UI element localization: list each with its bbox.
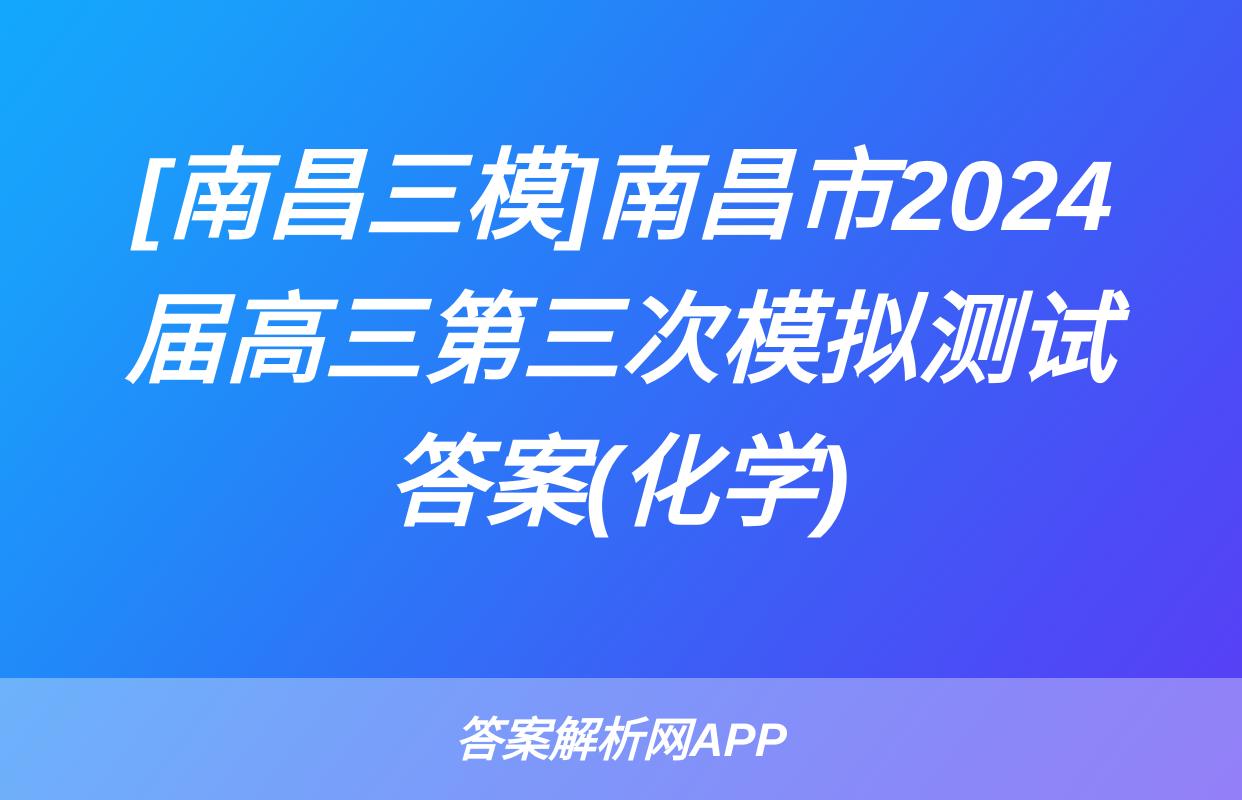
watermark-label: 答案解析网APP [454,716,787,763]
watermark-band: 答案解析网APP [0,678,1242,800]
title-container: [南昌三模]南昌市2024届高三第三次模拟测试答案(化学) [0,0,1242,678]
page-title: [南昌三模]南昌市2024届高三第三次模拟测试答案(化学) [82,124,1160,555]
poster-canvas: [南昌三模]南昌市2024届高三第三次模拟测试答案(化学) 答案解析网APP [0,0,1242,800]
